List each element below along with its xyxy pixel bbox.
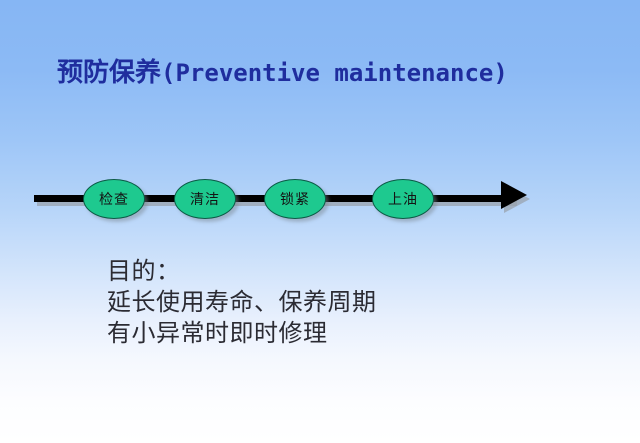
flow-node-label: 上油 [388,189,418,209]
flow-node-inspect[interactable]: 检查 [83,179,145,219]
flow-node-lubricate[interactable]: 上油 [372,179,434,219]
purpose-line-2: 有小异常时即时修理 [107,318,377,349]
purpose-line-1: 延长使用寿命、保养周期 [107,287,377,318]
flow-node-tighten[interactable]: 锁紧 [264,179,326,219]
purpose-heading: 目的： [107,256,377,287]
page-title-chinese: 预防保养 [57,58,161,88]
flow-node-label: 检查 [99,189,129,209]
purpose-text-block: 目的： 延长使用寿命、保养周期 有小异常时即时修理 [107,256,377,349]
flow-node-label: 锁紧 [280,189,310,209]
slide-canvas: 预防保养(Preventive maintenance) 检查 清洁 锁紧 上油… [0,0,640,443]
flow-node-label: 清洁 [190,189,220,209]
page-title-english: (Preventive maintenance) [161,59,508,87]
arrow-head-icon [501,181,527,209]
flow-node-clean[interactable]: 清洁 [174,179,236,219]
page-title: 预防保养(Preventive maintenance) [57,57,508,89]
